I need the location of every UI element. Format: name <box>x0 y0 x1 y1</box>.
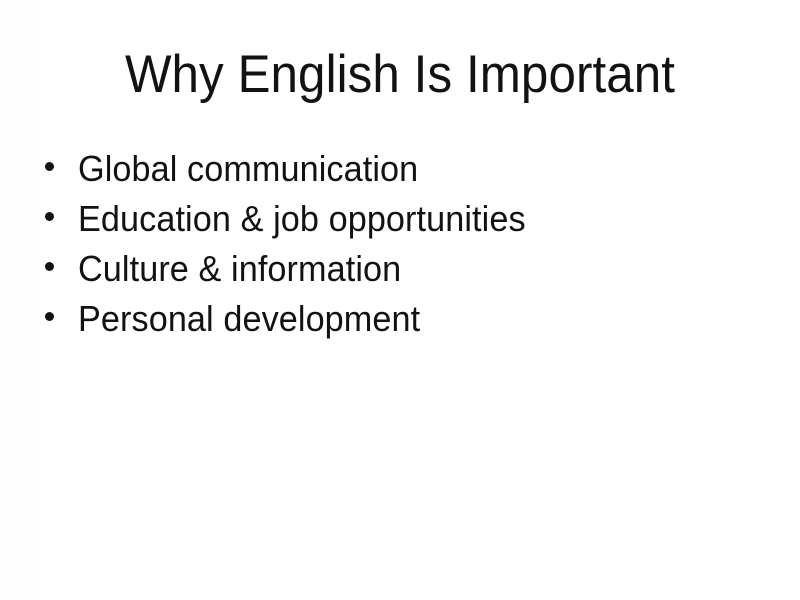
bullet-dot-icon <box>45 162 54 171</box>
bullet-item-label: Culture & information <box>78 248 401 290</box>
list-item: Culture & information <box>0 248 800 298</box>
bullet-item-label: Global communication <box>78 148 418 190</box>
bullet-item-label: Personal development <box>78 298 420 340</box>
bullet-dot-icon <box>45 212 54 221</box>
bullet-list: Global communication Education & job opp… <box>0 148 800 348</box>
presentation-slide: Why English Is Important Global communic… <box>0 0 800 600</box>
list-item: Personal development <box>0 298 800 348</box>
list-item: Education & job opportunities <box>0 198 800 248</box>
bullet-dot-icon <box>45 312 54 321</box>
bullet-dot-icon <box>45 262 54 271</box>
slide-title: Why English Is Important <box>28 44 772 106</box>
list-item: Global communication <box>0 148 800 198</box>
bullet-item-label: Education & job opportunities <box>78 198 526 240</box>
